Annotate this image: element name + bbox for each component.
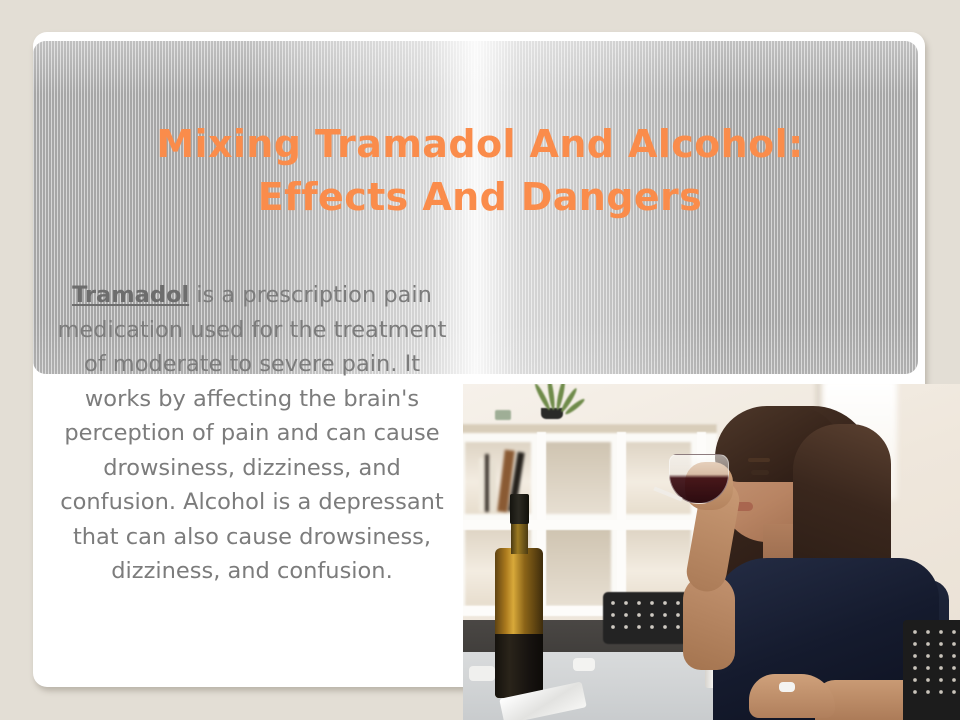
pill-on-table [469, 666, 495, 681]
wine-bottle-cap [510, 494, 529, 524]
woman-hand-holding-pills [749, 674, 835, 718]
pill-in-hand [779, 682, 795, 692]
pill-on-table [573, 658, 595, 671]
ceramic-cup [495, 410, 511, 420]
slide-title: Mixing Tramadol And Alcohol: Effects And… [0, 118, 960, 224]
wine-bottle-lower [495, 634, 543, 698]
photo-woman-wine-pills [463, 384, 960, 720]
chair-back-right-perforations [911, 628, 960, 702]
body-rest-text: is a prescription pain medication used f… [57, 282, 446, 584]
woman-eyebrow [748, 458, 770, 462]
shelf-frame-horizontal [463, 520, 713, 530]
shelf-top-board [463, 424, 717, 433]
slide-body-text: Tramadol is a prescription pain medicati… [50, 278, 454, 589]
woman-eye [751, 470, 769, 475]
books [479, 458, 484, 512]
tramadol-link[interactable]: Tramadol [72, 282, 189, 308]
slide-stage: Mixing Tramadol And Alcohol: Effects And… [0, 0, 960, 720]
